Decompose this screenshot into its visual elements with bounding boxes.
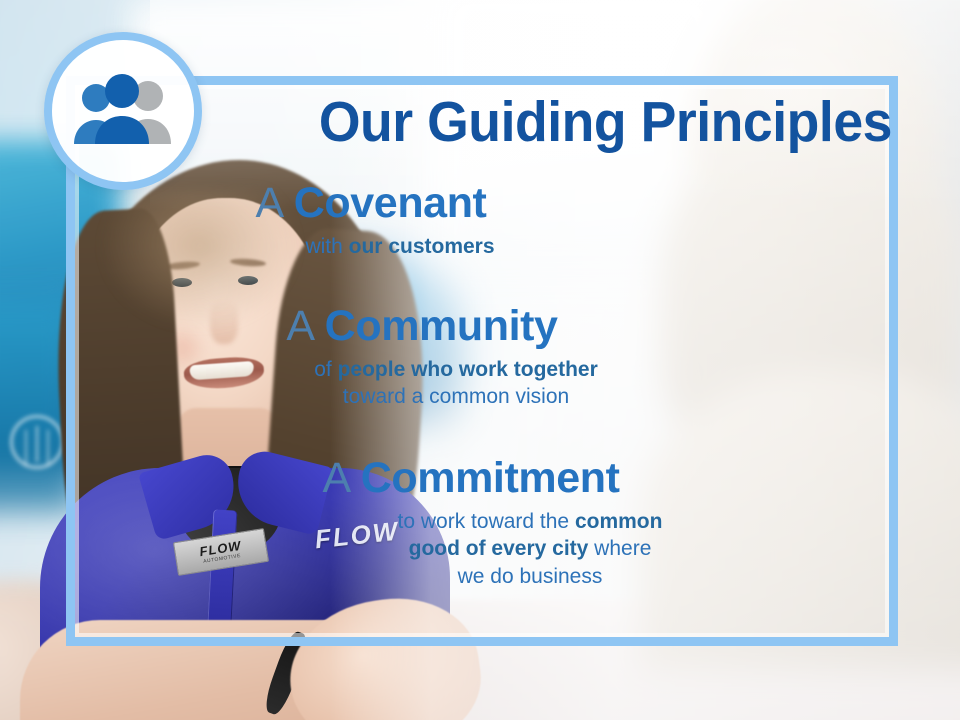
principle-commitment-subline-1: to work toward the common <box>186 508 874 535</box>
principle-community: A Community of people who work together … <box>66 304 898 411</box>
covenant-sub-plain-1: with <box>305 235 348 258</box>
principle-commitment-subline-3: we do business <box>186 563 874 590</box>
community-sub-plain-2: toward a common vision <box>343 385 569 408</box>
principle-community-word: Community <box>325 302 558 350</box>
commitment-sub-bold-2: good of every city <box>409 537 589 560</box>
community-sub-plain-1: of <box>314 358 337 381</box>
commitment-sub-plain-2: where <box>588 537 651 560</box>
vw-logo-icon <box>10 415 64 469</box>
principle-commitment-heading: A Commitment <box>66 456 898 501</box>
covenant-sub-bold-1: our customers <box>349 235 495 258</box>
principle-community-subtext: of people who work together toward a com… <box>66 356 898 411</box>
principle-covenant-word: Covenant <box>294 179 487 227</box>
principle-community-heading: A Community <box>66 304 898 349</box>
guiding-principles-graphic: FLOW FLOW AUTOMOTIVE Our Guiding Princip… <box>0 0 960 720</box>
commitment-sub-plain-3: we do business <box>458 565 603 588</box>
community-sub-bold-1: people who work together <box>338 358 598 381</box>
commitment-sub-bold-1: common <box>575 510 663 533</box>
people-group-icon <box>69 74 177 148</box>
principle-commitment: A Commitment to work toward the common g… <box>66 456 898 590</box>
principle-commitment-subline-2: good of every city where <box>186 535 874 562</box>
content-area: Our Guiding Principles A Covenant with o… <box>66 76 898 646</box>
principle-covenant-subtext: with our customers <box>66 233 898 260</box>
principle-community-subline-2: toward a common vision <box>66 383 846 410</box>
people-badge <box>44 32 202 190</box>
principle-community-article: A <box>286 302 312 350</box>
principle-covenant: A Covenant with our customers <box>66 181 898 260</box>
commitment-sub-plain-1: to work toward the <box>398 510 575 533</box>
principle-community-subline-1: of people who work together <box>66 356 846 383</box>
principle-commitment-article: A <box>322 454 348 502</box>
principle-commitment-word: Commitment <box>361 454 620 502</box>
page-title: Our Guiding Principles <box>116 94 892 151</box>
principle-covenant-subline-1: with our customers <box>66 233 734 260</box>
principle-commitment-subtext: to work toward the common good of every … <box>66 508 898 590</box>
principle-covenant-article: A <box>256 179 282 227</box>
principle-covenant-heading: A Covenant <box>66 181 898 226</box>
